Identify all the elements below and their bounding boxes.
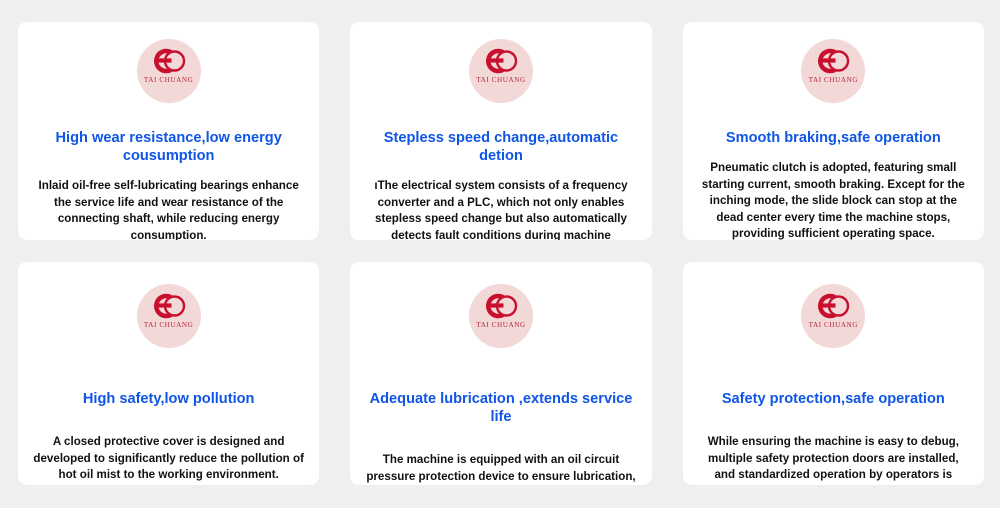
- card-title: Smooth braking,safe operation: [691, 129, 976, 147]
- feature-card-adequate-lubrication[interactable]: TAI CHUANG Adequate lubrication ,extends…: [350, 262, 651, 485]
- card-body-text: ıThe electrical system consists of a fre…: [358, 178, 643, 240]
- tai-chuang-logo-icon: TAI CHUANG: [137, 39, 201, 103]
- brand-name-text: TAI CHUANG: [144, 322, 193, 329]
- logo-mark-icon: [481, 46, 521, 76]
- card-title: Stepless speed change,automatic detion: [358, 129, 643, 165]
- feature-card-safety-protection[interactable]: TAI CHUANG Safety protection,safe operat…: [683, 262, 984, 485]
- brand-name-text: TAI CHUANG: [809, 322, 858, 329]
- card-title: High wear resistance,low energy cousumpt…: [26, 129, 311, 165]
- brand-name-text: TAI CHUANG: [144, 77, 193, 84]
- tai-chuang-logo-icon: TAI CHUANG: [801, 39, 865, 103]
- feature-card-smooth-braking[interactable]: TAI CHUANG Smooth braking,safe operation…: [683, 22, 984, 240]
- logo-mark-icon: [149, 46, 189, 76]
- logo-mark-icon: [481, 291, 521, 321]
- card-title: Safety protection,safe operation: [691, 390, 976, 408]
- logo-mark-icon: [149, 291, 189, 321]
- card-body-text: Pneumatic clutch is adopted, featuring s…: [691, 160, 976, 240]
- card-body-text: Inlaid oil-free self-lubricating bearing…: [26, 178, 311, 240]
- card-body-text: While ensuring the machine is easy to de…: [691, 434, 976, 485]
- card-title: High safety,low pollution: [26, 390, 311, 408]
- tai-chuang-logo-icon: TAI CHUANG: [801, 284, 865, 348]
- feature-card-stepless-speed-change[interactable]: TAI CHUANG Stepless speed change,automat…: [350, 22, 651, 240]
- card-title: Adequate lubrication ,extends service li…: [358, 390, 643, 426]
- tai-chuang-logo-icon: TAI CHUANG: [137, 284, 201, 348]
- feature-card-high-wear-resistance[interactable]: TAI CHUANG High wear resistance,low ener…: [18, 22, 319, 240]
- tai-chuang-logo-icon: TAI CHUANG: [469, 284, 533, 348]
- brand-name-text: TAI CHUANG: [476, 77, 525, 84]
- brand-name-text: TAI CHUANG: [476, 322, 525, 329]
- brand-name-text: TAI CHUANG: [809, 77, 858, 84]
- logo-mark-icon: [813, 291, 853, 321]
- logo-mark-icon: [813, 46, 853, 76]
- card-body-text: The machine is equipped with an oil circ…: [358, 452, 643, 485]
- tai-chuang-logo-icon: TAI CHUANG: [469, 39, 533, 103]
- feature-card-high-safety-low-pollution[interactable]: TAI CHUANG High safety,low pollution A c…: [18, 262, 319, 485]
- feature-card-grid: TAI CHUANG High wear resistance,low ener…: [0, 0, 1000, 508]
- card-body-text: A closed protective cover is designed an…: [26, 434, 311, 483]
